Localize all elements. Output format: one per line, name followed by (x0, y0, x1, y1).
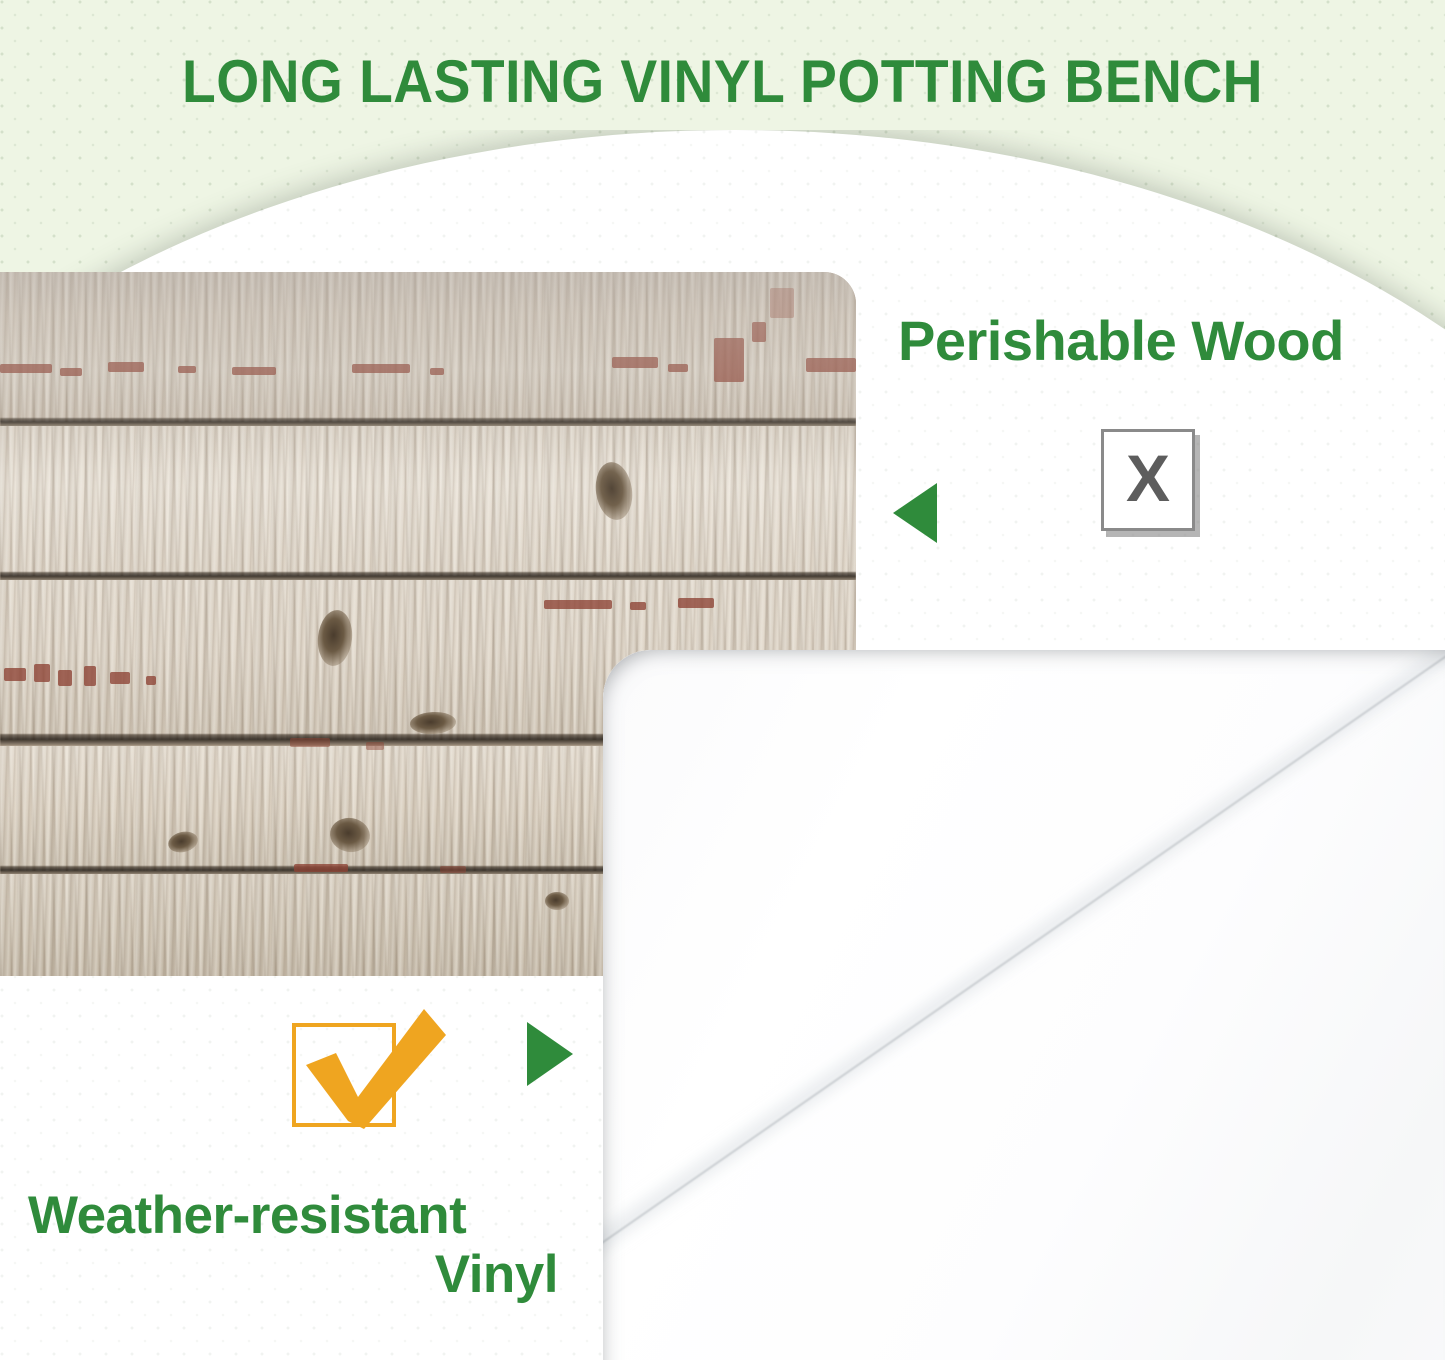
paint-fleck (352, 364, 410, 373)
paint-fleck (294, 864, 348, 872)
checkmark-box-icon (292, 1005, 452, 1135)
vinyl-panel-image (603, 650, 1445, 1360)
paint-fleck (108, 362, 144, 372)
paint-fleck (752, 322, 766, 342)
paint-fleck (34, 664, 50, 682)
paint-fleck (0, 364, 52, 373)
paint-fleck (770, 288, 794, 318)
paint-fleck (430, 368, 444, 375)
paint-fleck (290, 738, 330, 747)
paint-fleck (806, 358, 856, 372)
paint-fleck (366, 742, 384, 750)
paint-fleck (668, 364, 688, 372)
x-mark-icon: X (1126, 445, 1170, 511)
perishable-wood-label: Perishable Wood (898, 310, 1344, 373)
paint-fleck (714, 338, 744, 382)
paint-fleck (544, 600, 612, 609)
checkmark-glyph (292, 1005, 452, 1135)
paint-fleck (4, 668, 26, 681)
paint-fleck (630, 602, 646, 610)
paint-fleck (84, 666, 96, 686)
infographic-canvas: LONG LASTING VINYL POTTING BENCH (0, 0, 1445, 1360)
paint-fleck (58, 670, 72, 686)
paint-fleck (232, 367, 276, 375)
triangle-left-icon (893, 483, 937, 543)
paint-fleck (440, 866, 466, 873)
paint-fleck (612, 357, 658, 368)
wood-plank (0, 426, 856, 576)
paint-fleck (178, 366, 196, 373)
paint-fleck (110, 672, 130, 684)
page-title: LONG LASTING VINYL POTTING BENCH (58, 50, 1387, 113)
wood-grain (0, 426, 856, 576)
paint-fleck (60, 368, 82, 376)
wood-knot (545, 892, 569, 910)
x-mark-box: X (1101, 429, 1195, 531)
triangle-right-icon (527, 1022, 573, 1086)
paint-fleck (146, 676, 156, 685)
vinyl-label-line2: Vinyl (28, 1245, 558, 1304)
weather-resistant-vinyl-label: Weather-resistant Vinyl (28, 1186, 558, 1305)
vinyl-label-line1: Weather-resistant (28, 1186, 466, 1245)
paint-fleck (678, 598, 714, 608)
